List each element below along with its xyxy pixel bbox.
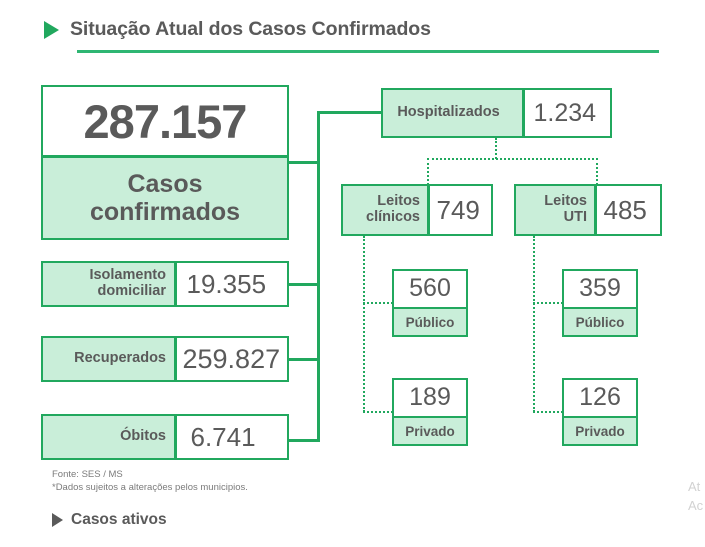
connector-to-hospitalizados	[317, 111, 383, 114]
leitos-uti-privado-caption: Privado	[564, 418, 636, 444]
play-triangle-icon	[44, 21, 59, 39]
card-leitos-uti[interactable]: Leitos UTI 485	[514, 184, 662, 236]
dotted-connector-uti-publico	[533, 302, 563, 304]
obitos-label: Óbitos	[43, 416, 174, 458]
card-leitos-clinicos-publico[interactable]: 560 Público	[392, 269, 468, 337]
card-isolamento-domiciliar[interactable]: Isolamento domiciliar 19.355	[41, 261, 289, 307]
card-leitos-uti-publico[interactable]: 359 Público	[562, 269, 638, 337]
hospitalizados-value: 1.234	[525, 90, 611, 136]
footer-source-text: Fonte: SES / MS	[52, 468, 123, 482]
dotted-connector-uti-vertical	[533, 236, 535, 412]
leitos-clinicos-value: 749	[430, 186, 492, 234]
isolamento-value: 19.355	[177, 263, 288, 305]
dotted-connector-to-leitos-uti	[596, 158, 598, 185]
leitos-uti-publico-caption: Público	[564, 309, 636, 335]
card-leitos-clinicos[interactable]: Leitos clínicos 749	[341, 184, 493, 236]
obitos-value: 6.741	[177, 416, 288, 458]
connector-to-obitos	[287, 439, 319, 442]
leitos-uti-label: Leitos UTI	[516, 186, 594, 234]
page-title: Situação Atual dos Casos Confirmados	[70, 18, 431, 41]
casos-confirmados-caption: Casos confirmados	[43, 158, 287, 239]
leitos-clinicos-privado-value: 189	[394, 380, 466, 416]
dotted-connector-clinicos-vertical	[363, 236, 365, 412]
dotted-connector-hosp-bar	[427, 158, 598, 160]
leitos-uti-privado-value: 126	[564, 380, 636, 416]
leitos-clinicos-label-line2: clínicos	[366, 210, 420, 226]
dotted-connector-clinicos-privado	[363, 411, 393, 413]
isolamento-label-line2: domiciliar	[89, 284, 166, 300]
dotted-connector-to-leitos-clinicos	[427, 158, 429, 185]
dotted-connector-hosp-stem	[495, 138, 497, 159]
connector-from-casos	[287, 161, 319, 164]
recuperados-label: Recuperados	[43, 338, 174, 380]
leitos-uti-label-line2: UTI	[544, 210, 587, 226]
leitos-clinicos-publico-value: 560	[394, 271, 466, 307]
leitos-uti-value: 485	[597, 186, 661, 234]
leitos-clinicos-label-line1: Leitos	[366, 194, 420, 210]
edge-note-line2: Ac	[688, 497, 705, 516]
page-header: Situação Atual dos Casos Confirmados	[44, 18, 431, 41]
infographic-canvas: Situação Atual dos Casos Confirmados 287…	[0, 0, 705, 547]
casos-caption-line2: confirmados	[90, 198, 240, 226]
casos-caption-line1: Casos	[127, 170, 202, 198]
card-recuperados[interactable]: Recuperados 259.827	[41, 336, 289, 382]
connector-to-isolamento	[287, 283, 319, 286]
leitos-uti-label-line1: Leitos	[544, 194, 587, 210]
isolamento-label-line1: Isolamento	[89, 268, 166, 284]
leitos-clinicos-publico-caption: Público	[394, 309, 466, 335]
card-hospitalizados[interactable]: Hospitalizados 1.234	[381, 88, 612, 138]
dotted-connector-uti-privado	[533, 411, 563, 413]
casos-confirmados-value: 287.157	[43, 87, 287, 155]
play-triangle-icon	[52, 513, 63, 527]
footer-nav-label: Casos ativos	[71, 511, 167, 529]
dotted-connector-clinicos-publico	[363, 302, 393, 304]
footer-note-text: *Dados sujeitos a alterações pelos munic…	[52, 481, 248, 495]
footer-nav-casos-ativos[interactable]: Casos ativos	[52, 511, 167, 529]
card-leitos-clinicos-privado[interactable]: 189 Privado	[392, 378, 468, 446]
edge-note-line1: At	[688, 478, 705, 497]
isolamento-label: Isolamento domiciliar	[43, 263, 174, 305]
leitos-clinicos-privado-caption: Privado	[394, 418, 466, 444]
hospitalizados-label: Hospitalizados	[383, 90, 522, 136]
header-divider	[77, 50, 659, 53]
edge-clipped-note: At Ac	[688, 478, 705, 516]
recuperados-value: 259.827	[177, 338, 288, 380]
card-obitos[interactable]: Óbitos 6.741	[41, 414, 289, 460]
card-leitos-uti-privado[interactable]: 126 Privado	[562, 378, 638, 446]
leitos-uti-publico-value: 359	[564, 271, 636, 307]
card-casos-confirmados[interactable]: 287.157 Casos confirmados	[41, 85, 289, 240]
leitos-clinicos-label: Leitos clínicos	[343, 186, 427, 234]
connector-to-recuperados	[287, 358, 319, 361]
